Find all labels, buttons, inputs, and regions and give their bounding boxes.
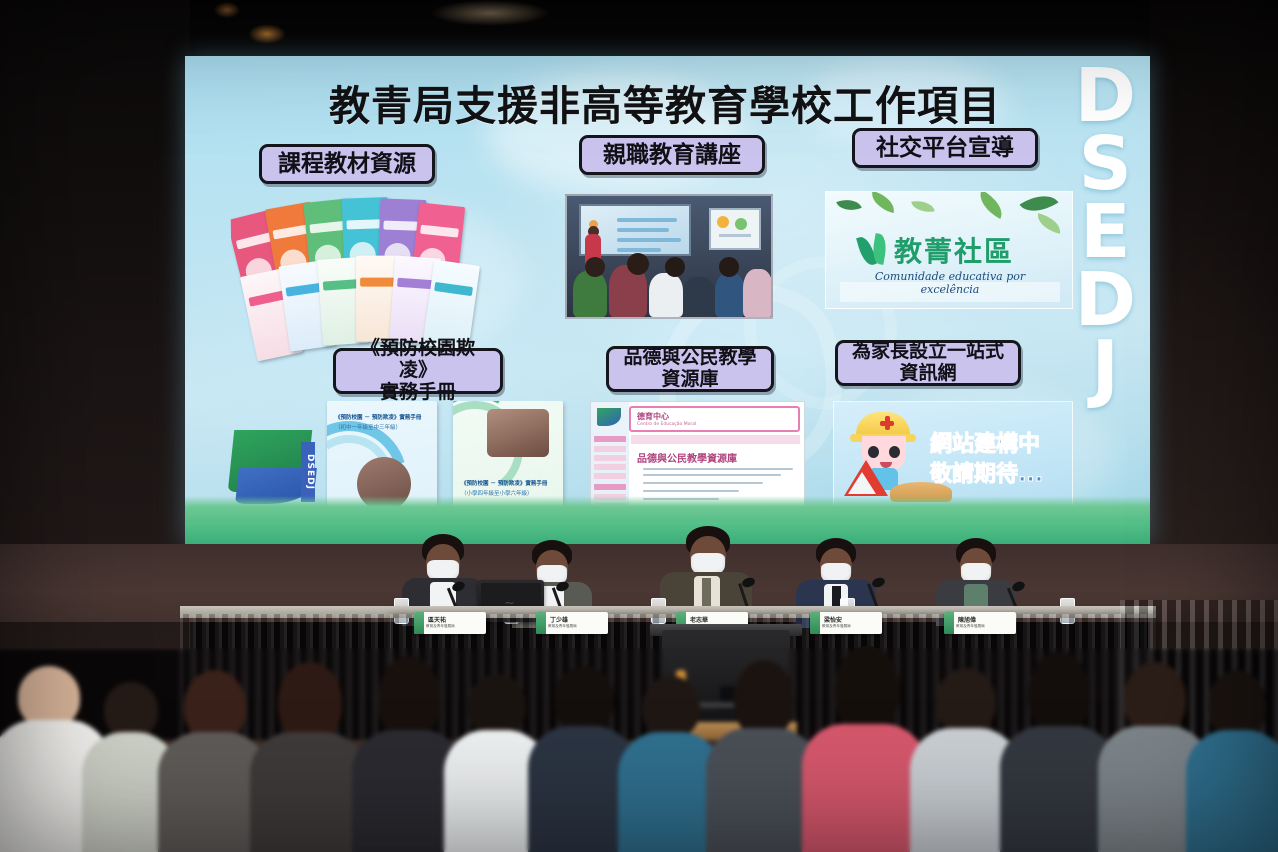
- caption-text-line2: 實務手冊: [380, 381, 456, 403]
- caption-text-line1: 品德與公民教學: [623, 346, 756, 368]
- slide-title: 教青局支援非高等教育學校工作項目: [245, 72, 1085, 132]
- caption-text: 課程教材資源: [278, 151, 416, 177]
- website-header: 德育中心 Centro de Educação Moral: [629, 406, 800, 432]
- caption-text-line2: 資源庫: [661, 368, 718, 390]
- caption-text: 社交平台宣導: [876, 135, 1014, 161]
- brand-letter: E: [1080, 198, 1131, 266]
- handbook-subtitle: （初中一年級至中三年級）: [335, 423, 429, 431]
- caption-moral-resource-library: 品德與公民教學 資源庫: [606, 346, 774, 392]
- warning-triangle-inner: [848, 472, 876, 494]
- brand-letter: S: [1079, 130, 1132, 198]
- seminar-whiteboard: [709, 208, 761, 250]
- leaf-icon: [868, 191, 897, 213]
- caption-social-platform: 社交平台宣導: [852, 128, 1038, 168]
- red-cross-icon: [880, 416, 894, 430]
- website-body-title: 品德與公民教學資源庫: [637, 450, 737, 465]
- audience: [0, 600, 1278, 852]
- dsedj-vertical-brand: D S E D J: [1075, 62, 1136, 402]
- parent-seminar-photo: [565, 194, 773, 319]
- caption-text-line1: 為家長設立一站式: [852, 340, 1004, 362]
- social-community-banner: 教菁社區 Comunidade educativa por excelência: [825, 191, 1073, 309]
- caption-parenting-seminar: 親職教育講座: [579, 135, 765, 175]
- social-banner-title: 教菁社區: [894, 230, 1014, 270]
- caption-bullying-handbook: 《預防校園欺凌》 實務手冊: [333, 348, 503, 394]
- caption-text: 親職教育講座: [603, 142, 741, 168]
- spotlight-warm-secondary: [214, 2, 240, 18]
- community-leaf-logo-icon: [860, 234, 888, 266]
- audience-member: [1186, 670, 1278, 852]
- website-logo-icon: [597, 408, 621, 426]
- caption-text-line1: 《預防校園欺凌》: [361, 337, 475, 381]
- leaf-icon: [911, 199, 935, 215]
- website-header-subtitle: Centro de Educação Moral: [637, 422, 696, 427]
- leaf-icon: [836, 195, 861, 216]
- social-banner-subtitle: Comunidade educativa por excelência: [850, 270, 1050, 296]
- logo-vertical-acronym: DSEDJ: [301, 442, 315, 502]
- spotlight-warm: [248, 24, 286, 44]
- handbook-title: 《預防校園 － 預防欺凌》實務手冊: [335, 413, 429, 421]
- construction-text-line2: 敬請期待...: [930, 456, 1043, 488]
- projection-screen: 教青局支援非高等教育學校工作項目 D S E D J: [185, 56, 1150, 544]
- brand-letter: D: [1075, 266, 1136, 334]
- audience-member: [802, 646, 926, 852]
- press-conference-scene: 教青局支援非高等教育學校工作項目 D S E D J: [0, 0, 1278, 852]
- caption-curriculum-resources: 課程教材資源: [259, 144, 435, 184]
- caption-text-line2: 資訊網: [899, 362, 956, 384]
- handbook-title: 《預防校園 － 預防欺凌》實務手冊: [461, 479, 557, 487]
- website-header-title: 德育中心: [637, 411, 669, 422]
- leaf-icon: [974, 191, 1008, 219]
- audience-member: [250, 662, 366, 852]
- construction-text-line1: 網站建構中: [930, 426, 1040, 458]
- brand-letter: J: [1092, 334, 1120, 402]
- leaf-icon: [1035, 213, 1064, 234]
- ceiling-light-glow: [430, 0, 550, 26]
- website-nav-bar: [631, 435, 800, 444]
- brand-letter: D: [1075, 62, 1136, 130]
- caption-onestop-info-site: 為家長設立一站式 資訊網: [835, 340, 1021, 386]
